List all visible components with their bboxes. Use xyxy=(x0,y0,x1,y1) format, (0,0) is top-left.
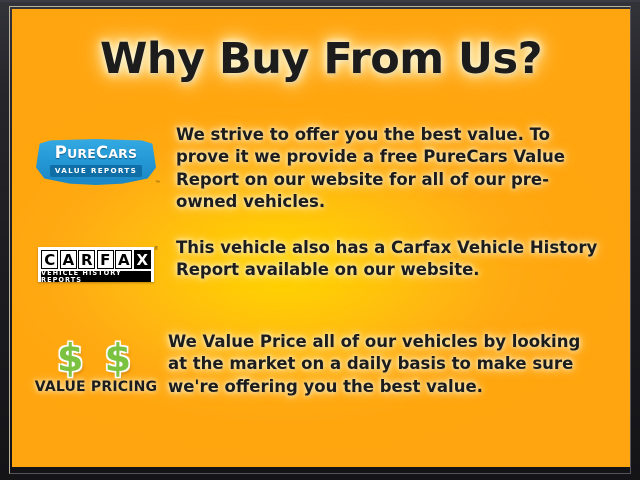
dollar-sign-icon: $ $ xyxy=(35,339,158,377)
value-pricing-caption: VALUE PRICING xyxy=(35,379,158,395)
carfax-registered-icon: ® xyxy=(154,246,158,252)
purecars-wordmark-c: C xyxy=(96,143,108,162)
benefit-row-carfax: C A R F A X VEHICLE HISTORY REPORTS ® Th… xyxy=(30,237,600,282)
page-title: Why Buy From Us? xyxy=(12,38,630,81)
purecars-trademark-icon: ™ xyxy=(155,180,160,186)
carfax-letter-c: C xyxy=(41,250,58,269)
carfax-letter-f: F xyxy=(97,250,114,269)
carfax-letter-a2: A xyxy=(115,250,132,269)
slide-frame: Why Buy From Us? PURECARS VALUE REPORTS … xyxy=(0,0,640,480)
purecars-body-text: We strive to offer you the best value. T… xyxy=(162,124,600,213)
carfax-logo: C A R F A X VEHICLE HISTORY REPORTS ® xyxy=(38,247,154,282)
carfax-body-text: This vehicle also has a Carfax Vehicle H… xyxy=(162,237,600,282)
benefit-row-value-pricing: $ $ VALUE PRICING We Value Price all of … xyxy=(30,331,600,398)
carfax-tagline-band: VEHICLE HISTORY REPORTS xyxy=(41,271,151,282)
value-pricing-logo-cell: $ $ VALUE PRICING xyxy=(30,331,162,395)
page-title-text: Why Buy From Us? xyxy=(100,38,542,81)
purecars-wordmark: PURECARS xyxy=(36,145,156,162)
purecars-wordmark-p: P xyxy=(55,143,67,162)
value-pricing-body-text: We Value Price all of our vehicles by lo… xyxy=(162,331,600,398)
carfax-tagline-text: VEHICLE HISTORY REPORTS xyxy=(41,270,151,283)
purecars-logo-cell: PURECARS VALUE REPORTS ™ xyxy=(30,124,162,185)
value-pricing-logo: $ $ VALUE PRICING xyxy=(35,339,158,395)
carfax-logo-cell: C A R F A X VEHICLE HISTORY REPORTS ® xyxy=(30,237,162,282)
purecars-wordmark-ars: ARS xyxy=(108,146,137,161)
carfax-letter-a1: A xyxy=(60,250,77,269)
purecars-tagline-text: VALUE REPORTS xyxy=(55,167,137,174)
benefit-row-purecars: PURECARS VALUE REPORTS ™ We strive to of… xyxy=(30,124,600,213)
carfax-letter-x: X xyxy=(134,250,151,269)
purecars-wordmark-ure: URE xyxy=(67,146,96,161)
purecars-logo: PURECARS VALUE REPORTS ™ xyxy=(36,139,156,185)
slide-canvas: Why Buy From Us? PURECARS VALUE REPORTS … xyxy=(12,9,630,467)
purecars-tagline-band: VALUE REPORTS xyxy=(50,165,142,177)
carfax-letter-boxes: C A R F A X xyxy=(41,250,151,269)
carfax-letter-r: R xyxy=(78,250,95,269)
